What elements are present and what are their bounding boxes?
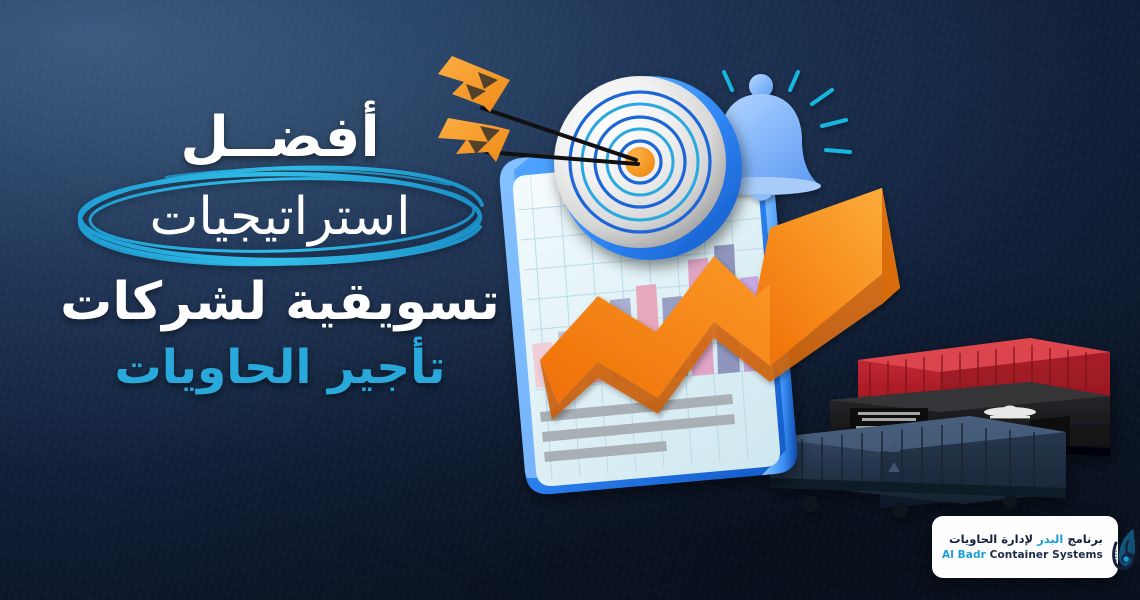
brand-arabic-prefix: برنامج <box>1067 532 1103 546</box>
illustration-svg <box>470 60 1140 530</box>
brand-arabic-suffix: لإدارة الحاويات <box>949 532 1033 546</box>
headline-line-2: استراتيجيات <box>0 174 560 260</box>
marketing-banner: أفضــل استراتيجيات <box>0 0 1140 600</box>
container-group <box>770 338 1110 518</box>
brand-logo-badge[interactable]: برنامج البدر لإدارة الحاويات Al Badr Con… <box>932 516 1118 578</box>
headline-line-2-highlight: استراتيجيات <box>0 174 560 260</box>
hero-illustration <box>470 60 1140 530</box>
headline-block: أفضــل استراتيجيات <box>0 108 560 393</box>
brand-english-suffix: Container Systems <box>990 549 1103 561</box>
brand-arabic-brand: البدر <box>1037 532 1063 546</box>
headline-line-3: تسويقية لشركات <box>0 274 560 330</box>
al-badr-logo-icon <box>1106 523 1140 571</box>
brand-name-arabic: برنامج البدر لإدارة الحاويات <box>942 531 1103 548</box>
brand-english-brand: Al Badr <box>942 549 986 561</box>
navy-roll-off-container <box>770 416 1066 518</box>
brand-name-english: Al Badr Container Systems <box>942 548 1103 563</box>
headline-line-1: أفضــل <box>0 108 560 168</box>
brand-logo-text: برنامج البدر لإدارة الحاويات Al Badr Con… <box>942 531 1106 563</box>
headline-line-4: تأجير الحاويات <box>0 343 560 394</box>
